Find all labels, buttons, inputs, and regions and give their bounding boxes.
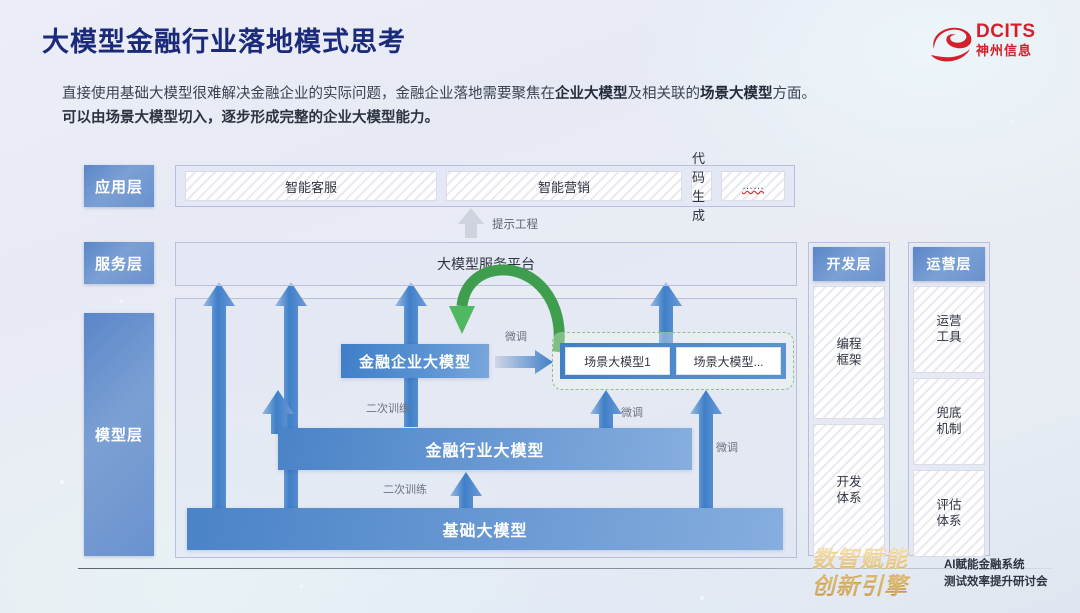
dcits-logo: DCITS 神州信息 bbox=[928, 22, 1068, 68]
event-brand-line-2: 创新引擎 bbox=[812, 573, 934, 600]
cell-programming-framework[interactable]: 编程 框架 bbox=[813, 286, 885, 419]
subtitle-seg-3: 及相关联的 bbox=[628, 86, 701, 102]
app-box-more[interactable]: …… bbox=[721, 171, 785, 201]
event-brand-line-1: 数智赋能 bbox=[812, 546, 934, 573]
logo-name-en: DCITS bbox=[976, 22, 1036, 42]
cell-label: 编程 框架 bbox=[836, 337, 861, 368]
subtitle-seg-2: 企业大模型 bbox=[555, 86, 628, 102]
layer-label-model: 模型层 bbox=[84, 313, 154, 556]
event-name-line-1: AI赋能金融系统 bbox=[944, 557, 1048, 574]
event-name-line-2: 测试效率提升研讨会 bbox=[944, 574, 1048, 591]
note-second-training-ent: 二次训练 bbox=[366, 400, 410, 416]
note-finetune-right: 微调 bbox=[716, 439, 738, 455]
sparkle bbox=[1010, 120, 1013, 123]
logo-name-cn: 神州信息 bbox=[976, 42, 1036, 59]
arrow-up-prompt-engineering bbox=[458, 208, 484, 238]
note-finetune-horizontal: 微调 bbox=[505, 328, 527, 344]
box-scene-model-1[interactable]: 场景大模型1 bbox=[565, 347, 670, 375]
app-box-code-generation[interactable]: 代码生成 bbox=[691, 171, 712, 201]
cell-fallback-mechanism[interactable]: 兜底 机制 bbox=[913, 378, 985, 465]
logo-text-block: DCITS 神州信息 bbox=[976, 22, 1036, 59]
application-layer-panel: 智能客服 智能营销 代码生成 …… bbox=[175, 165, 795, 207]
cell-evaluation-system[interactable]: 评估 体系 bbox=[913, 470, 985, 557]
page-title: 大模型金融行业落地模式思考 bbox=[42, 20, 406, 59]
column-header-operations: 运营层 bbox=[913, 247, 985, 281]
scene-models-bar: 场景大模型1 场景大模型... bbox=[560, 343, 786, 379]
cell-label: 运营 工具 bbox=[936, 314, 961, 345]
cell-label: 兜底 机制 bbox=[936, 406, 961, 437]
architecture-diagram: 应用层 服务层 模型层 bbox=[0, 150, 1080, 565]
subtitle-seg-4: 场景大模型 bbox=[700, 86, 773, 102]
event-name: AI赋能金融系统 测试效率提升研讨会 bbox=[944, 557, 1048, 591]
box-industry-model[interactable]: 金融行业大模型 bbox=[278, 428, 692, 470]
box-enterprise-model[interactable]: 金融企业大模型 bbox=[341, 344, 489, 378]
note-second-training-ind: 二次训练 bbox=[383, 481, 427, 497]
cell-label: 开发 体系 bbox=[836, 475, 861, 506]
column-development-layer: 开发层 编程 框架 开发 体系 bbox=[808, 242, 890, 556]
arrow-up-secondtrain-ind bbox=[450, 472, 482, 512]
event-brand-logo: 数智赋能 创新引擎 bbox=[812, 546, 934, 604]
box-base-model[interactable]: 基础大模型 bbox=[187, 508, 783, 550]
box-scene-model-2[interactable]: 场景大模型... bbox=[676, 347, 781, 375]
sparkle bbox=[700, 596, 704, 600]
arrow-up-1 bbox=[203, 282, 235, 512]
note-finetune-scene: 微调 bbox=[621, 404, 643, 420]
arrow-right-finetune bbox=[495, 350, 553, 379]
ellipsis-label: …… bbox=[742, 180, 764, 192]
layer-label-application: 应用层 bbox=[84, 165, 154, 207]
subtitle-line-2: 可以由场景大模型切入，逐步形成完整的企业大模型能力。 bbox=[62, 106, 439, 127]
slide-canvas: 大模型金融行业落地模式思考 直接使用基础大模型很难解决金融企业的实际问题，金融企… bbox=[0, 0, 1080, 613]
layer-label-service: 服务层 bbox=[84, 242, 154, 284]
cell-operations-tools[interactable]: 运营 工具 bbox=[913, 286, 985, 373]
column-header-development: 开发层 bbox=[813, 247, 885, 281]
app-box-customer-service[interactable]: 智能客服 bbox=[185, 171, 437, 201]
cell-development-system[interactable]: 开发 体系 bbox=[813, 424, 885, 557]
app-box-marketing[interactable]: 智能营销 bbox=[446, 171, 682, 201]
subtitle-line-1: 直接使用基础大模型很难解决金融企业的实际问题，金融企业落地需要聚焦在企业大模型及… bbox=[62, 82, 816, 103]
subtitle-seg-1: 直接使用基础大模型很难解决金融企业的实际问题，金融企业落地需要聚焦在 bbox=[62, 86, 555, 102]
cell-label: 评估 体系 bbox=[936, 498, 961, 529]
subtitle-seg-5: 方面。 bbox=[773, 86, 817, 102]
column-operations-layer: 运营层 运营 工具 兜底 机制 评估 体系 bbox=[908, 242, 990, 556]
swirl-icon bbox=[928, 22, 974, 64]
sparkle bbox=[300, 585, 303, 588]
arrow-up-finetune-scene-2 bbox=[690, 390, 722, 520]
note-prompt-engineering: 提示工程 bbox=[492, 216, 538, 232]
